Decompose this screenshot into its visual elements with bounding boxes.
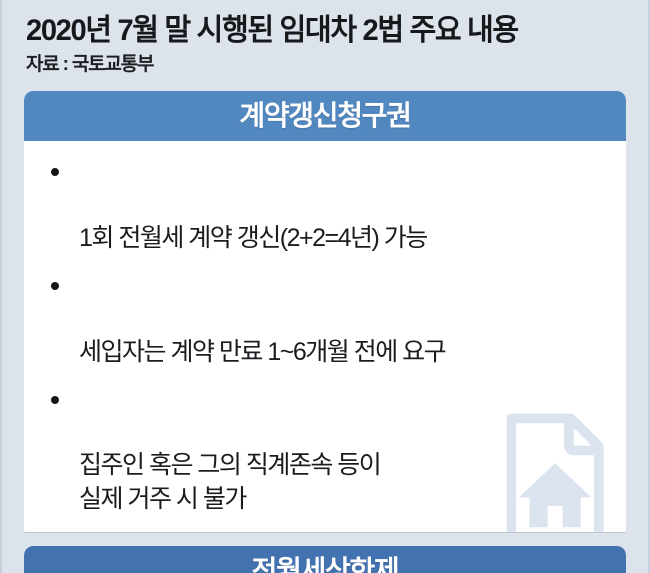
bullet-text: 1회 전월세 계약 갱신(2+2=4년) 가능	[79, 224, 427, 252]
source-caption: 자료 : 국토교통부	[26, 55, 648, 76]
list-item: 1회 전월세 계약 갱신(2+2=4년) 가능	[44, 155, 606, 255]
list-item: 집주인 혹은 그의 직계존속 등이 실제 거주 시 불가	[44, 383, 606, 516]
infographic-root: 2020년 7월 말 시행된 임대차 2법 주요 내용 자료 : 국토교통부 계…	[0, 0, 650, 573]
section-card-1: 계약갱신청구권 1회 전월세 계약 갱신(2+2=4년) 가능	[24, 91, 626, 532]
bullet-dot-icon	[51, 282, 59, 290]
page-title: 2020년 7월 말 시행된 임대차 2법 주요 내용	[26, 14, 629, 48]
list-item: 세입자는 계약 만료 1~6개월 전에 요구	[44, 269, 606, 369]
bullet-text: 집주인 혹은 그의 직계존속 등이 실제 거주 시 불가	[79, 451, 380, 512]
section-1-bullet-list: 1회 전월세 계약 갱신(2+2=4년) 가능 세입자는 계약 만료 1~6개월…	[44, 155, 606, 516]
section-1-body: 1회 전월세 계약 갱신(2+2=4년) 가능 세입자는 계약 만료 1~6개월…	[24, 141, 626, 532]
section-2-header: 전월세상한제	[24, 546, 626, 573]
section-1-header: 계약갱신청구권	[24, 91, 626, 141]
bullet-dot-icon	[51, 396, 59, 404]
section-card-2: 전월세상한제 갱신 시 임대료 증액은 5% 내로 제한	[24, 546, 626, 573]
sections-container: 계약갱신청구권 1회 전월세 계약 갱신(2+2=4년) 가능	[2, 91, 648, 573]
bullet-text: 세입자는 계약 만료 1~6개월 전에 요구	[79, 338, 445, 366]
header-block: 2020년 7월 말 시행된 임대차 2법 주요 내용 자료 : 국토교통부	[2, 0, 648, 75]
bullet-dot-icon	[51, 168, 59, 176]
